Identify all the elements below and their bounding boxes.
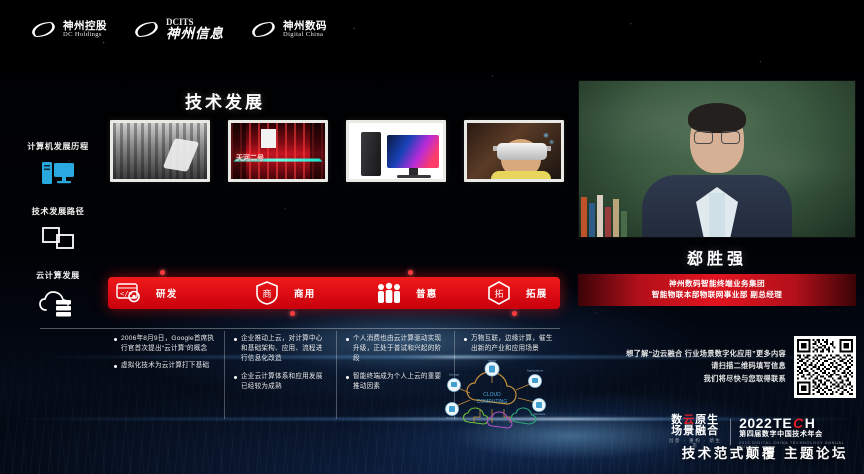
- speaker-title-banner: 神州数码智能终端业务集团 智能物联本部物联网事业部 副总经理: [578, 274, 856, 306]
- cloud-section-divider: [40, 328, 560, 329]
- swoosh-icon: [30, 21, 57, 38]
- cloud-server-icon: [18, 288, 98, 318]
- qr-instruction-text: 想了解“边云融合 行业场景数字化应用”更多内容 请扫描二维码填写信息 我们将尽快…: [626, 348, 786, 386]
- svg-text:Applications: Applications: [527, 369, 544, 373]
- expand-hexagon-icon: 拓: [484, 282, 514, 304]
- stage-segment-commercial: 商 商用: [246, 277, 368, 309]
- speaker-name: 郄胜强: [578, 245, 856, 269]
- cloud-computing-diagram: CLOUD COMPUTING Server Storage: [440, 360, 560, 432]
- qr-line: 请扫描二维码填写信息: [626, 360, 786, 373]
- logo-label-en: Digital China: [283, 32, 327, 39]
- qr-line: 想了解“边云融合 行业场景数字化应用”更多内容: [626, 348, 786, 361]
- forum-banner-title: 技术范式颠覆 主题论坛: [0, 442, 848, 462]
- swoosh-icon: [133, 21, 160, 38]
- bullet-item: 企业云计算体系和应用发展已经较为成熟: [234, 372, 328, 392]
- svg-text:CLOUD: CLOUD: [483, 392, 501, 398]
- speaker-title-line: 智能物联本部物联网事业部 副总经理: [578, 289, 856, 300]
- supercomputer-caption: 天河二号: [236, 153, 264, 163]
- bookshelf-decoration: [581, 193, 629, 237]
- svg-text:拓: 拓: [494, 288, 503, 299]
- stage-segment-rd: </> 研发: [108, 277, 246, 309]
- row-label-text: 计算机发展历程: [18, 140, 98, 152]
- slide-title: 技术发展: [185, 88, 265, 113]
- desktop-computer-icon: [18, 159, 98, 189]
- event-logo-title: 2022TECH: [739, 416, 856, 431]
- logo-label-cn: 神州信息: [166, 27, 224, 41]
- event-logo-row2: 场景融合: [668, 426, 722, 437]
- cloud-column: 企业推动上云，对计算中心和基础架构、应用、流程进行信息化改造 企业云计算体系和应…: [224, 334, 336, 399]
- bullet-item: 虚拟化技术为云计算打下基础: [114, 361, 216, 371]
- row-label-tech-path: 技术发展路径: [18, 205, 98, 252]
- speaker-panel: 郄胜强 神州数码智能终端业务集团 智能物联本部物联网事业部 副总经理 想了解“边…: [578, 80, 856, 398]
- stage-segment-expansion: 拓 拓展: [478, 277, 560, 309]
- svg-text:Database: Database: [533, 412, 546, 416]
- logo-digital-china: 神州数码 Digital China: [250, 21, 327, 39]
- bullet-item: 企业推动上云，对计算中心和基础架构、应用、流程进行信息化改造: [234, 334, 328, 365]
- stage-label: 拓展: [526, 286, 547, 300]
- stage-label: 普惠: [416, 286, 437, 300]
- supercomputer-photo: 天河二号: [228, 120, 328, 182]
- wechat-qr-code[interactable]: [794, 336, 856, 398]
- row-label-text: 云计算发展: [18, 269, 98, 281]
- historic-computer-photo: [110, 120, 210, 182]
- row-label-text: 技术发展路径: [18, 205, 98, 217]
- desktop-pc-photo: [346, 120, 446, 182]
- svg-text:Server: Server: [488, 360, 497, 363]
- presentation-slide: 技术发展 计算机发展历程 技术发展路径 云计算发展: [0, 72, 568, 362]
- shield-commerce-icon: 商: [252, 282, 282, 304]
- bullet-item: 万物互联，边缘计算，催生出新的产业和应用场景: [464, 334, 556, 354]
- swoosh-icon: [250, 21, 277, 38]
- qr-call-to-action: 想了解“边云融合 行业场景数字化应用”更多内容 请扫描二维码填写信息 我们将尽快…: [578, 336, 856, 398]
- cloud-column: 2006年8月9日，Google首席执行官首次提出“云计算”的概念 虚拟化技术为…: [104, 334, 224, 399]
- stage-label: 商用: [294, 286, 315, 300]
- flow-path-icon: [18, 224, 98, 252]
- stage-label: 研发: [156, 286, 177, 300]
- event-logo-subtitle-cn: 第四届数字中国技术年会: [739, 431, 856, 438]
- speaker-title-line: 神州数码智能终端业务集团: [578, 278, 856, 289]
- row-label-computer-history: 计算机发展历程: [18, 140, 98, 189]
- svg-text:Storage: Storage: [449, 373, 460, 377]
- row-label-cloud-development: 云计算发展: [18, 269, 98, 318]
- logo-dcits: DCITS 神州信息: [133, 18, 224, 42]
- logo-dc-holdings: 神州控股 DC Holdings: [30, 21, 107, 39]
- stage-segment-inclusive: 普惠: [368, 277, 478, 309]
- speaker-video-feed[interactable]: [578, 80, 856, 238]
- technology-stage-bar: </> 研发 商 商用: [108, 277, 560, 309]
- people-group-icon: [374, 282, 404, 304]
- cloud-column: 个人消费也由云计算驱动实现升级，正处于普试和兴起的阶段 智能终端成为个人上云的重…: [336, 334, 454, 399]
- svg-text:COMPUTING: COMPUTING: [477, 399, 508, 405]
- bullet-item: 智能终端成为个人上云的重要推动因素: [346, 372, 446, 392]
- bullet-item: 2006年8月9日，Google首席执行官首次提出“云计算”的概念: [114, 334, 216, 354]
- brand-logo-bar: 神州控股 DC Holdings DCITS 神州信息 神州数码 Digital…: [30, 18, 327, 42]
- svg-text:</>: </>: [120, 290, 133, 298]
- svg-text:Services: Services: [446, 416, 458, 420]
- svg-text:商: 商: [262, 288, 271, 299]
- photo-strip: 天河二号: [110, 120, 564, 182]
- logo-label-en: DC Holdings: [63, 32, 107, 39]
- qr-line: 我们将尽快与您取得联系: [626, 373, 786, 386]
- vr-headset-photo: [464, 120, 564, 182]
- speaker-glasses: [694, 131, 740, 144]
- bullet-item: 个人消费也由云计算驱动实现升级，正处于普试和兴起的阶段: [346, 334, 446, 365]
- code-gear-icon: </>: [114, 282, 144, 304]
